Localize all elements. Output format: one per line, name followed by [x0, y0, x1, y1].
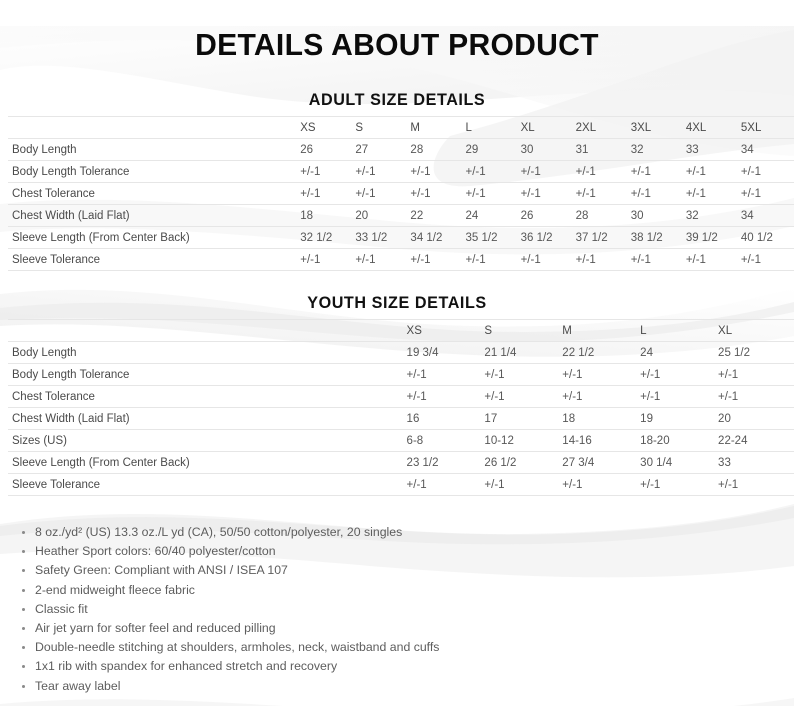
row-label: Chest Tolerance — [8, 386, 405, 408]
table-row: Chest Tolerance+/-1+/-1+/-1+/-1+/-1 — [8, 386, 794, 408]
column-header-m: M — [408, 117, 463, 139]
row-label: Chest Width (Laid Flat) — [8, 205, 298, 227]
measurement-cell: 18 — [298, 205, 353, 227]
measurement-cell: +/-1 — [629, 161, 684, 183]
measurement-cell: 27 — [353, 139, 408, 161]
measurement-cell: 10-12 — [482, 430, 560, 452]
list-item: Tear away label — [22, 677, 794, 696]
row-label: Sleeve Length (From Center Back) — [8, 227, 298, 249]
measurement-cell: 33 1/2 — [353, 227, 408, 249]
adult-size-section-heading: ADULT SIZE DETAILS — [20, 90, 774, 110]
measurement-cell: +/-1 — [560, 364, 638, 386]
column-header-l: L — [638, 320, 716, 342]
measurement-cell: 22-24 — [716, 430, 794, 452]
list-item: 8 oz./yd² (US) 13.3 oz./L yd (CA), 50/50… — [22, 523, 794, 542]
column-header-m: M — [560, 320, 638, 342]
measurement-cell: 33 — [684, 139, 739, 161]
measurement-cell: 34 — [739, 139, 794, 161]
measurement-cell: 6-8 — [405, 430, 483, 452]
row-label: Body Length — [8, 342, 405, 364]
measurement-cell: 30 — [629, 205, 684, 227]
table-row: Chest Width (Laid Flat)18202224262830323… — [8, 205, 794, 227]
measurement-cell: 26 — [519, 205, 574, 227]
table-row: Sleeve Tolerance+/-1+/-1+/-1+/-1+/-1+/-1… — [8, 249, 794, 271]
measurement-cell: +/-1 — [739, 161, 794, 183]
measurement-cell: +/-1 — [684, 161, 739, 183]
table-corner-cell — [8, 320, 405, 342]
size-chart-page: DETAILS ABOUT PRODUCT ADULT SIZE DETAILS… — [0, 26, 794, 706]
measurement-cell: +/-1 — [629, 249, 684, 271]
measurement-cell: +/-1 — [408, 183, 463, 205]
adult-size-table: XSSMLXL2XL3XL4XL5XLBody Length2627282930… — [8, 116, 794, 271]
table-row: Chest Tolerance+/-1+/-1+/-1+/-1+/-1+/-1+… — [8, 183, 794, 205]
measurement-cell: 31 — [574, 139, 629, 161]
row-label: Body Length — [8, 139, 298, 161]
measurement-cell: +/-1 — [560, 474, 638, 496]
measurement-cell: +/-1 — [638, 474, 716, 496]
measurement-cell: 25 1/2 — [716, 342, 794, 364]
measurement-cell: 34 1/2 — [408, 227, 463, 249]
column-header-s: S — [482, 320, 560, 342]
row-label: Sleeve Tolerance — [8, 249, 298, 271]
measurement-cell: +/-1 — [574, 183, 629, 205]
measurement-cell: 14-16 — [560, 430, 638, 452]
measurement-cell: +/-1 — [560, 386, 638, 408]
column-header-3xl: 3XL — [629, 117, 684, 139]
youth-size-section-heading: YOUTH SIZE DETAILS — [20, 293, 774, 313]
list-item: Classic fit — [22, 600, 794, 619]
column-header-l: L — [464, 117, 519, 139]
measurement-cell: 38 1/2 — [629, 227, 684, 249]
measurement-cell: 28 — [574, 205, 629, 227]
column-header-2xl: 2XL — [574, 117, 629, 139]
measurement-cell: 32 — [684, 205, 739, 227]
measurement-cell: 39 1/2 — [684, 227, 739, 249]
table-corner-cell — [8, 117, 298, 139]
measurement-cell: +/-1 — [482, 474, 560, 496]
measurement-cell: +/-1 — [519, 183, 574, 205]
measurement-cell: 22 — [408, 205, 463, 227]
list-item: Safety Green: Compliant with ANSI / ISEA… — [22, 561, 794, 580]
table-row: Sleeve Length (From Center Back)32 1/233… — [8, 227, 794, 249]
measurement-cell: +/-1 — [464, 249, 519, 271]
column-header-xl: XL — [716, 320, 794, 342]
list-item: 1x1 rib with spandex for enhanced stretc… — [22, 657, 794, 676]
measurement-cell: +/-1 — [405, 364, 483, 386]
measurement-cell: +/-1 — [353, 161, 408, 183]
measurement-cell: 36 1/2 — [519, 227, 574, 249]
table-row: Sleeve Length (From Center Back)23 1/226… — [8, 452, 794, 474]
measurement-cell: 18 — [560, 408, 638, 430]
table-row: Sizes (US)6-810-1214-1618-2022-24 — [8, 430, 794, 452]
measurement-cell: +/-1 — [519, 161, 574, 183]
measurement-cell: +/-1 — [482, 386, 560, 408]
measurement-cell: +/-1 — [739, 183, 794, 205]
measurement-cell: 30 — [519, 139, 574, 161]
measurement-cell: 19 3/4 — [405, 342, 483, 364]
measurement-cell: +/-1 — [464, 183, 519, 205]
column-header-4xl: 4XL — [684, 117, 739, 139]
table-row: Body Length Tolerance+/-1+/-1+/-1+/-1+/-… — [8, 364, 794, 386]
measurement-cell: 32 1/2 — [298, 227, 353, 249]
list-item: Heather Sport colors: 60/40 polyester/co… — [22, 542, 794, 561]
measurement-cell: +/-1 — [716, 474, 794, 496]
measurement-cell: +/-1 — [684, 183, 739, 205]
page-title: DETAILS ABOUT PRODUCT — [12, 26, 782, 64]
measurement-cell: +/-1 — [638, 364, 716, 386]
measurement-cell: +/-1 — [408, 249, 463, 271]
table-row: Body Length262728293031323334 — [8, 139, 794, 161]
table-header-row: XSSMLXL — [8, 320, 794, 342]
list-item: 2-end midweight fleece fabric — [22, 581, 794, 600]
measurement-cell: +/-1 — [353, 183, 408, 205]
measurement-cell: +/-1 — [519, 249, 574, 271]
measurement-cell: 21 1/4 — [482, 342, 560, 364]
measurement-cell: 16 — [405, 408, 483, 430]
product-feature-list: 8 oz./yd² (US) 13.3 oz./L yd (CA), 50/50… — [22, 523, 794, 696]
measurement-cell: +/-1 — [629, 183, 684, 205]
measurement-cell: +/-1 — [464, 161, 519, 183]
measurement-cell: +/-1 — [298, 161, 353, 183]
measurement-cell: 34 — [739, 205, 794, 227]
column-header-5xl: 5XL — [739, 117, 794, 139]
measurement-cell: 20 — [716, 408, 794, 430]
measurement-cell: 24 — [638, 342, 716, 364]
measurement-cell: +/-1 — [638, 386, 716, 408]
measurement-cell: 35 1/2 — [464, 227, 519, 249]
measurement-cell: 27 3/4 — [560, 452, 638, 474]
measurement-cell: +/-1 — [353, 249, 408, 271]
measurement-cell: +/-1 — [739, 249, 794, 271]
row-label: Body Length Tolerance — [8, 364, 405, 386]
measurement-cell: +/-1 — [716, 386, 794, 408]
measurement-cell: 29 — [464, 139, 519, 161]
row-label: Chest Tolerance — [8, 183, 298, 205]
measurement-cell: +/-1 — [405, 474, 483, 496]
measurement-cell: 26 — [298, 139, 353, 161]
row-label: Chest Width (Laid Flat) — [8, 408, 405, 430]
column-header-xl: XL — [519, 117, 574, 139]
measurement-cell: +/-1 — [298, 183, 353, 205]
measurement-cell: 33 — [716, 452, 794, 474]
table-row: Body Length Tolerance+/-1+/-1+/-1+/-1+/-… — [8, 161, 794, 183]
youth-size-table: XSSMLXLBody Length19 3/421 1/422 1/22425… — [8, 319, 794, 496]
column-header-xs: XS — [298, 117, 353, 139]
measurement-cell: +/-1 — [574, 249, 629, 271]
measurement-cell: 19 — [638, 408, 716, 430]
column-header-xs: XS — [405, 320, 483, 342]
measurement-cell: 18-20 — [638, 430, 716, 452]
measurement-cell: 20 — [353, 205, 408, 227]
row-label: Sleeve Tolerance — [8, 474, 405, 496]
measurement-cell: 17 — [482, 408, 560, 430]
measurement-cell: 24 — [464, 205, 519, 227]
measurement-cell: +/-1 — [298, 249, 353, 271]
list-item: Air jet yarn for softer feel and reduced… — [22, 619, 794, 638]
measurement-cell: 28 — [408, 139, 463, 161]
row-label: Sizes (US) — [8, 430, 405, 452]
table-header-row: XSSMLXL2XL3XL4XL5XL — [8, 117, 794, 139]
measurement-cell: 22 1/2 — [560, 342, 638, 364]
measurement-cell: +/-1 — [684, 249, 739, 271]
measurement-cell: 23 1/2 — [405, 452, 483, 474]
column-header-s: S — [353, 117, 408, 139]
row-label: Sleeve Length (From Center Back) — [8, 452, 405, 474]
measurement-cell: +/-1 — [482, 364, 560, 386]
measurement-cell: 37 1/2 — [574, 227, 629, 249]
measurement-cell: 32 — [629, 139, 684, 161]
measurement-cell: +/-1 — [408, 161, 463, 183]
table-row: Body Length19 3/421 1/422 1/22425 1/2 — [8, 342, 794, 364]
measurement-cell: 26 1/2 — [482, 452, 560, 474]
measurement-cell: +/-1 — [716, 364, 794, 386]
measurement-cell: 40 1/2 — [739, 227, 794, 249]
measurement-cell: +/-1 — [574, 161, 629, 183]
measurement-cell: +/-1 — [405, 386, 483, 408]
table-row: Chest Width (Laid Flat)1617181920 — [8, 408, 794, 430]
list-item: Double-needle stitching at shoulders, ar… — [22, 638, 794, 657]
measurement-cell: 30 1/4 — [638, 452, 716, 474]
table-row: Sleeve Tolerance+/-1+/-1+/-1+/-1+/-1 — [8, 474, 794, 496]
row-label: Body Length Tolerance — [8, 161, 298, 183]
